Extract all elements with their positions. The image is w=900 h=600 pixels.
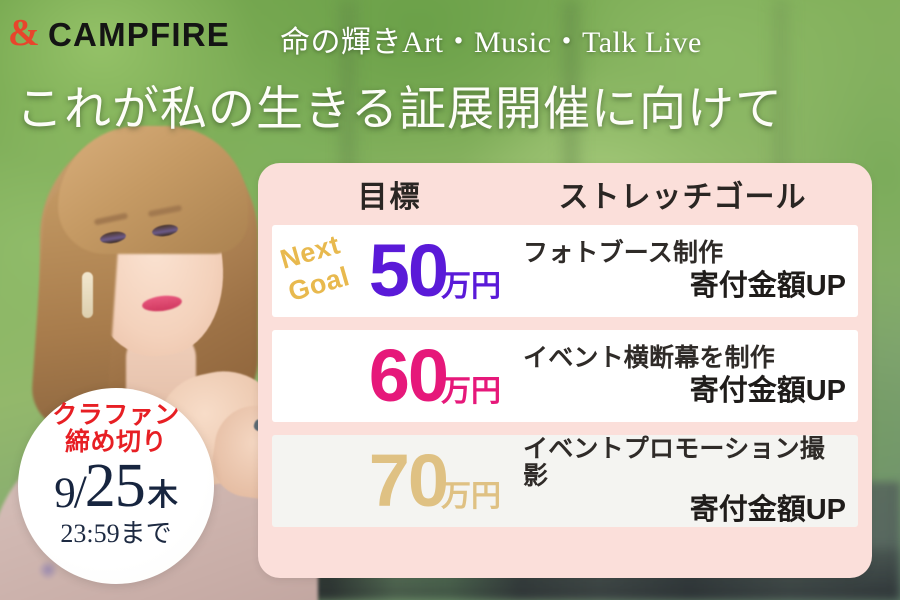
page-title: これが私の生きる証展開催に向けて [16, 70, 886, 139]
stretch-goal-bonus: 寄付金額UP [523, 270, 846, 302]
goal-amount-unit: 万円 [441, 272, 501, 302]
goal-amount-number: 60 [369, 343, 447, 410]
goals-panel: 目標 ストレッチゴール Next Goal 50 万円 フォトブース制作 寄付金… [258, 163, 872, 578]
goal-amount-cell: 70 万円 [272, 435, 507, 527]
ampersand-flame-icon: & [8, 18, 38, 52]
deadline-month: 9 [54, 474, 76, 515]
campfire-logo-text: CAMPFIRE [48, 16, 230, 54]
goal-description-cell: イベントプロモーション撮影 寄付金額UP [507, 435, 858, 527]
deadline-weekday: 木 [148, 481, 178, 515]
stretch-goal-title: イベントプロモーション撮影 [523, 436, 846, 491]
goal-amount-number: 50 [369, 238, 447, 305]
deadline-time: 23:59まで [60, 513, 171, 550]
portrait-earring [82, 272, 93, 318]
goal-description-cell: イベント横断幕を制作 寄付金額UP [507, 330, 858, 422]
goal-row: 60 万円 イベント横断幕を制作 寄付金額UP [272, 330, 858, 422]
goal-amount-cell: Next Goal 50 万円 [272, 225, 507, 317]
next-goal-badge-line1: Next [277, 229, 344, 275]
goal-amount: 70 万円 [369, 448, 501, 515]
column-header-goal: 目標 [272, 172, 507, 216]
next-goal-badge-line2: Goal [285, 261, 353, 308]
event-tagline: 命の輝きArt・Music・Talk Live [280, 17, 702, 61]
goal-row: 70 万円 イベントプロモーション撮影 寄付金額UP [272, 435, 858, 527]
deadline-label-line1: クラファン [52, 402, 180, 429]
deadline-day: 25 [85, 458, 145, 515]
goal-amount: 60 万円 [369, 343, 501, 410]
goal-row: Next Goal 50 万円 フォトブース制作 寄付金額UP [272, 225, 858, 317]
next-goal-badge: Next Goal [278, 235, 374, 307]
deadline-label: クラファン 締め切り [52, 402, 180, 456]
goal-amount-unit: 万円 [441, 482, 501, 512]
stretch-goal-bonus: 寄付金額UP [523, 494, 846, 526]
stretch-goal-title: フォトブース制作 [523, 240, 846, 268]
stretch-goal-title: イベント横断幕を制作 [523, 345, 846, 373]
stretch-goal-bonus: 寄付金額UP [523, 375, 846, 407]
deadline-date: 9 / 25 木 [54, 458, 178, 515]
campfire-logo: & CAMPFIRE [8, 16, 230, 54]
goal-amount: 50 万円 [369, 238, 501, 305]
goals-panel-header: 目標 ストレッチゴール [272, 163, 858, 225]
goal-description-cell: フォトブース制作 寄付金額UP [507, 225, 858, 317]
goal-amount-cell: 60 万円 [272, 330, 507, 422]
goal-amount-unit: 万円 [441, 377, 501, 407]
deadline-badge: クラファン 締め切り 9 / 25 木 23:59まで [18, 388, 214, 584]
campfire-banner: & CAMPFIRE 命の輝きArt・Music・Talk Live これが私の… [0, 0, 900, 600]
goal-amount-number: 70 [369, 448, 447, 515]
column-header-stretch-goal: ストレッチゴール [507, 172, 858, 216]
